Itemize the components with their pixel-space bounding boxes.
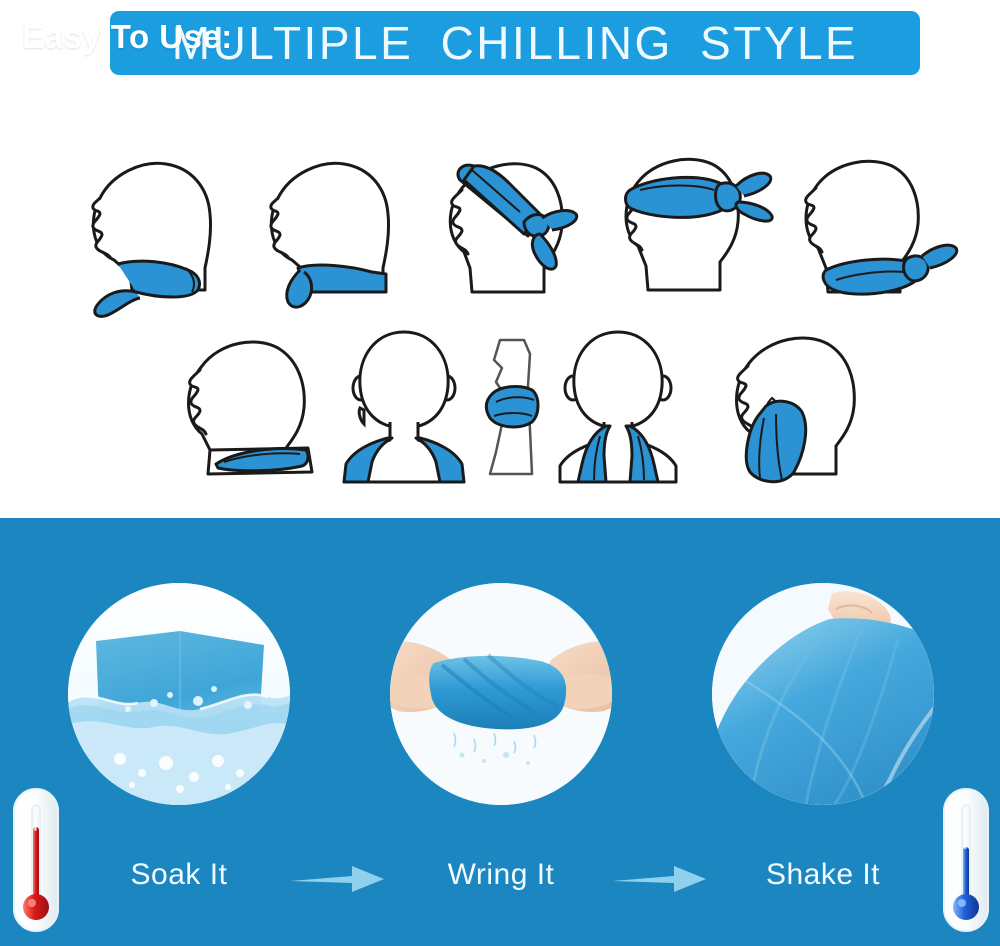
step-label-shake-it: Shake It <box>712 858 934 892</box>
step-label-soak-it: Soak It <box>68 858 290 892</box>
easy-to-use-heading: Easy To Use: <box>22 18 233 56</box>
arrow-right-icon-2 <box>610 862 708 896</box>
chilling-styles-section: MULTIPLE CHILLING STYLE <box>0 0 1000 518</box>
style-figure-neck-scarf <box>62 142 247 317</box>
style-figure-diagonal-bandana <box>424 142 609 317</box>
style-figure-wrist-wrap <box>478 334 548 479</box>
cold-thermometer-icon <box>940 785 992 935</box>
style-figure-face-wipe <box>700 322 880 492</box>
step-photo-wring-it <box>390 583 612 805</box>
arrow-right-icon-1 <box>288 862 386 896</box>
style-figure-neck-knot <box>240 142 425 317</box>
hot-thermometer-icon <box>10 785 62 935</box>
styles-grid <box>0 0 1000 518</box>
style-figure-back-neck-tie <box>780 142 965 317</box>
style-figure-shoulder-drape <box>334 326 484 486</box>
step-photo-shake-it <box>712 583 934 805</box>
style-figure-neck-wrap <box>160 322 340 492</box>
style-figure-headband <box>600 142 785 317</box>
step-label-wring-it: Wring It <box>390 858 612 892</box>
style-figure-shoulder-towel <box>548 326 698 486</box>
step-photo-soak-it <box>68 583 290 805</box>
